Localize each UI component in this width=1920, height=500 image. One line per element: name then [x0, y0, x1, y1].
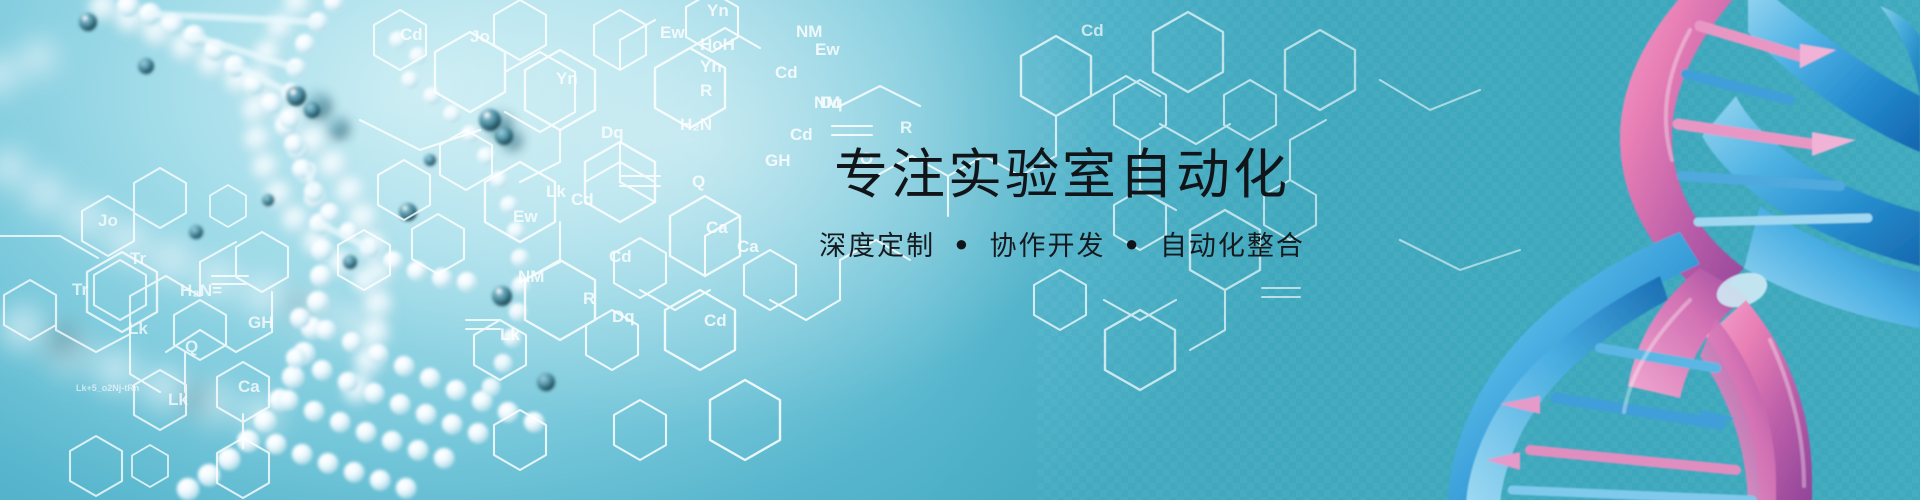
hero-subtitle-part-2: 协作开发 — [990, 224, 1106, 263]
hero-text-block: 专注实验室自动化 深度定制 ● 协作开发 ● 自动化整合 — [742, 146, 1382, 263]
hero-banner: CdJoYnEwNMCdRYnCdHoHNMDqCdEwLkCdRORGHH₂N… — [0, 0, 1920, 500]
hero-subtitle-part-3: 自动化整合 — [1160, 224, 1305, 263]
hero-subtitle: 深度定制 ● 协作开发 ● 自动化整合 — [742, 224, 1382, 263]
hero-headline: 专注实验室自动化 — [742, 146, 1382, 204]
bullet-separator-icon-2: ● — [1115, 233, 1150, 255]
hero-subtitle-part-1: 深度定制 — [819, 224, 935, 263]
bullet-separator-icon-1: ● — [945, 233, 980, 255]
